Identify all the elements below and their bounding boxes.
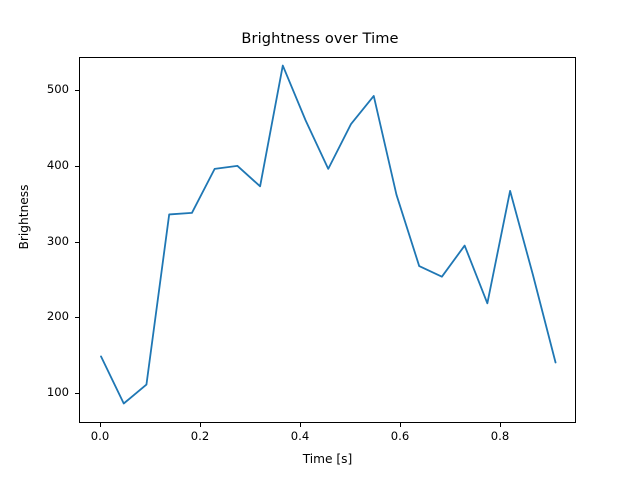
line-chart-svg [80,58,577,424]
y-tick-label: 400 [0,158,69,172]
x-axis-label: Time [s] [79,452,576,466]
x-tick-mark [200,423,201,427]
plot-area [79,57,576,423]
y-tick-mark [75,242,79,243]
x-tick-mark [100,423,101,427]
y-tick-mark [75,393,79,394]
figure-canvas: Brightness over Time 0.00.20.40.60.8 100… [0,0,640,480]
x-tick-mark [400,423,401,427]
x-tick-label: 0.6 [370,429,430,443]
x-tick-label: 0.0 [70,429,130,443]
y-axis-label: Brightness [17,117,31,317]
y-tick-mark [75,166,79,167]
x-tick-label: 0.2 [170,429,230,443]
y-tick-label: 100 [0,385,69,399]
x-tick-mark [500,423,501,427]
x-tick-mark [300,423,301,427]
y-tick-mark [75,317,79,318]
y-tick-label: 300 [0,234,69,248]
x-tick-label: 0.4 [270,429,330,443]
y-tick-label: 200 [0,309,69,323]
data-series-brightness [101,66,556,404]
page-title: Brightness over Time [0,30,640,47]
y-tick-mark [75,90,79,91]
y-tick-label: 500 [0,82,69,96]
x-tick-label: 0.8 [470,429,530,443]
